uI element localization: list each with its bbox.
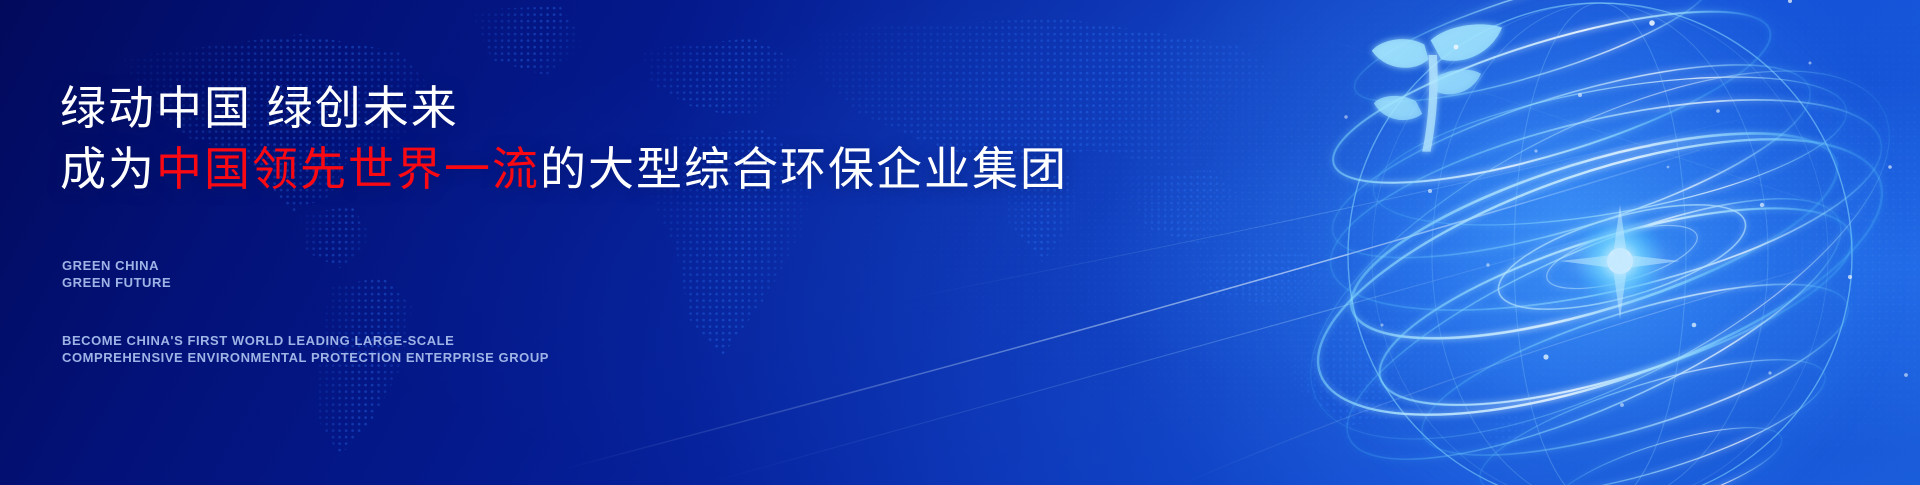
- hero-banner: 绿动中国 绿创未来 成为中国领先世界一流的大型综合环保企业集团 GREEN CH…: [0, 0, 1920, 485]
- english-subtext-block: GREEN CHINA GREEN FUTURE BECOME CHINA'S …: [62, 258, 549, 367]
- hex-grid-overlay: [0, 0, 1920, 485]
- world-map-dot-texture: [0, 0, 1920, 485]
- tagline-en-line-2: GREEN FUTURE: [62, 275, 549, 292]
- particles: [1344, 0, 1908, 485]
- light-streaks: [0, 0, 1920, 485]
- sprout-seedling-icon: [1372, 24, 1502, 151]
- globe-core: [1560, 205, 1680, 319]
- tagline-en: GREEN CHINA GREEN FUTURE: [62, 258, 549, 292]
- headline-line2-highlight: 中国领先世界一流: [156, 143, 540, 195]
- tagline-en-line-1: GREEN CHINA: [62, 258, 549, 275]
- headline-line2-prefix: 成为: [60, 143, 156, 195]
- headline-line-1: 绿动中国 绿创未来: [60, 78, 1068, 139]
- mission-en-line-2: COMPREHENSIVE ENVIRONMENTAL PROTECTION E…: [62, 350, 549, 367]
- globe-wireframe-svg: [1250, 0, 1920, 485]
- globe-graphic: [1250, 0, 1920, 485]
- globe-outer-glow: [1280, 0, 1920, 485]
- headline-line2-suffix: 的大型综合环保企业集团: [540, 143, 1068, 195]
- mission-en-line-1: BECOME CHINA'S FIRST WORLD LEADING LARGE…: [62, 333, 549, 350]
- headline-block: 绿动中国 绿创未来 成为中国领先世界一流的大型综合环保企业集团: [60, 78, 1068, 200]
- mission-en: BECOME CHINA'S FIRST WORLD LEADING LARGE…: [62, 333, 549, 367]
- headline-line-2: 成为中国领先世界一流的大型综合环保企业集团: [60, 139, 1068, 200]
